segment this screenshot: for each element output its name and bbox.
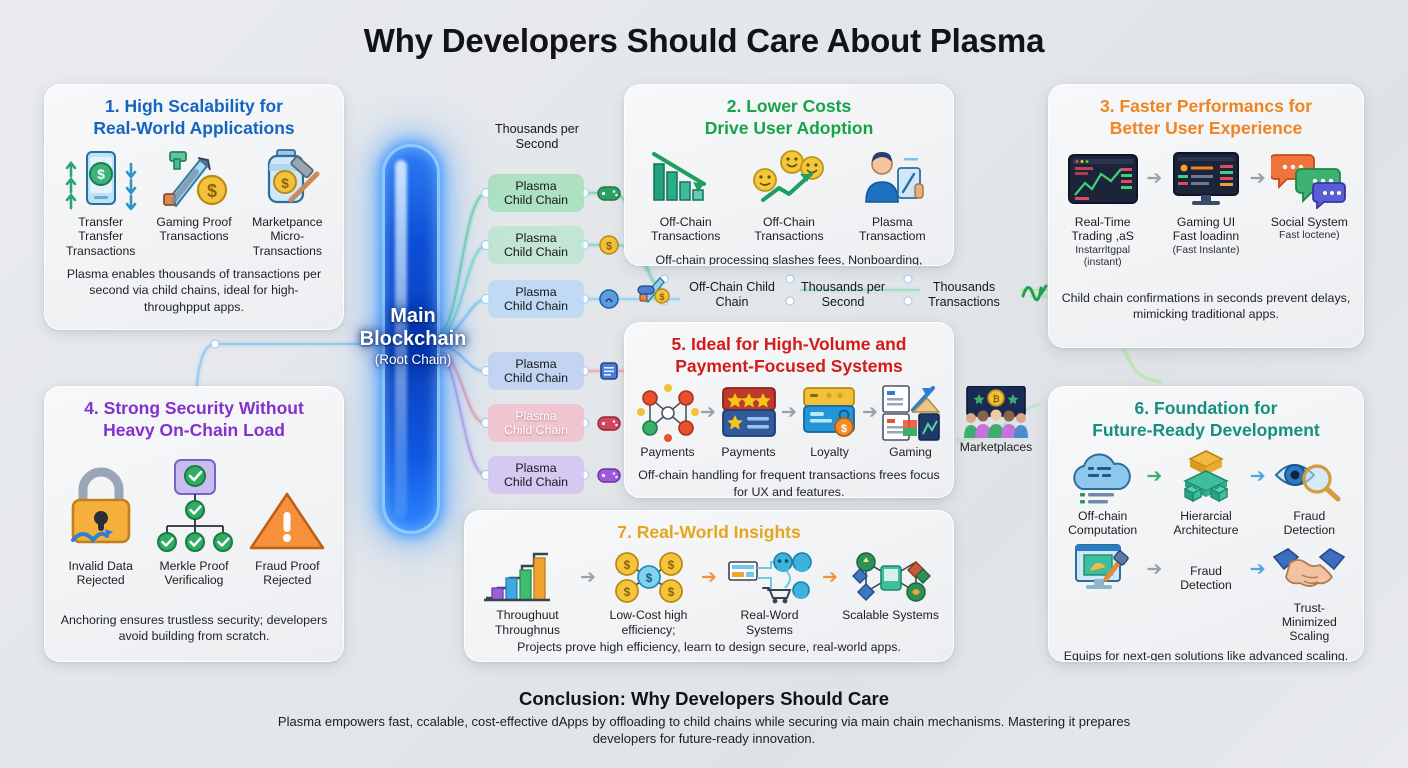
- card-icon-row: Real-Time Trading ,aS Instarrltgpal (ins…: [1061, 146, 1351, 268]
- card-title-line1: 7. Real-World Insights: [477, 521, 941, 543]
- icon-label: Invalid Data Rejected: [57, 559, 144, 588]
- child-chain-pill-6[interactable]: Plasma Child Chain: [488, 456, 584, 494]
- cloud-code-icon: [1066, 448, 1140, 506]
- svg-text:$: $: [606, 241, 612, 253]
- icon-label: Loyalty: [810, 445, 849, 459]
- arrow-right-icon: ➔: [1248, 146, 1268, 212]
- gamepad-icon: [596, 182, 622, 204]
- icon-label: Merkle Proof Verificaliog: [150, 559, 237, 588]
- coin-icon: $: [598, 234, 620, 256]
- icon-cell[interactable]: Plasma Transactiom: [844, 146, 941, 244]
- card-icon-row: Off-Chain Transactions: [637, 146, 941, 244]
- arrow-right-icon: ➔: [1248, 448, 1268, 506]
- documents-chart-icon: [879, 384, 943, 442]
- svg-text:₿: ₿: [992, 394, 999, 404]
- padlock-icon: [59, 456, 143, 556]
- infographic-canvas: Why Developers Should Care About Plasma …: [0, 0, 1408, 768]
- icon-label: Real-Time Trading ,aS: [1061, 215, 1144, 244]
- svg-text:$: $: [840, 423, 846, 435]
- icon-label: Transfer Transfer Transactions: [57, 215, 144, 258]
- icon-cell[interactable]: $ Marketpance Micro- Transactions: [244, 146, 331, 258]
- icon-label: Plasma Transactiom: [844, 215, 941, 244]
- card-description: Projects prove high efficiency, learn to…: [477, 639, 941, 655]
- card-title: 7. Real-World Insights: [477, 521, 941, 543]
- marketplaces-label: Marketplaces: [960, 440, 1032, 454]
- card-lower-costs[interactable]: 2. Lower Costs Drive User Adoption Off-C…: [624, 84, 954, 266]
- card-real-world-insights[interactable]: 7. Real-World Insights Throughuut Throug…: [464, 510, 954, 662]
- arrow-right-icon: ➔: [698, 384, 718, 442]
- label-thousands-transactions: Thousands Transactions: [908, 280, 1020, 310]
- card-title-line1: 3. Faster Performancs for: [1061, 95, 1351, 117]
- card-description: Child chain confirmations in seconds pre…: [1061, 290, 1351, 323]
- label-offchain-child-chain: Off-Chain Child Chain: [676, 280, 788, 310]
- svg-text:$: $: [207, 181, 217, 201]
- icon-sublabel: Instarrltgpal (instant): [1061, 244, 1144, 268]
- chain-label-line2: Child Chain: [504, 193, 568, 207]
- icon-cell[interactable]: Payments: [637, 384, 698, 459]
- card-title: 3. Faster Performancs for Better User Ex…: [1061, 95, 1351, 140]
- icon-cell[interactable]: Trust-Minimized Scaling: [1268, 542, 1351, 644]
- card-title-line1: 6. Foundation for: [1061, 397, 1351, 419]
- icon-cell[interactable]: Off-chain Computation: [1061, 448, 1144, 538]
- card-title-line1: 2. Lower Costs: [637, 95, 941, 117]
- icon-label: Gaming UI Fast loadinn: [1164, 215, 1247, 244]
- icon-cell[interactable]: Gaming UI Fast loadinn (Fast Inslante): [1164, 146, 1247, 256]
- svg-text:$: $: [97, 166, 105, 182]
- icon-cell[interactable]: $ Transfer Transfer Transactions: [57, 146, 144, 258]
- card-icon-row: $ Transfer Transfer Transactions: [57, 146, 331, 258]
- icon-cell[interactable]: Off-Chain Transactions: [740, 146, 837, 244]
- icon-cell[interactable]: Fraud Detection: [1164, 542, 1247, 593]
- card-title: 1. High Scalability for Real-World Appli…: [57, 95, 331, 140]
- gamepad-icon: [596, 412, 622, 434]
- label-thousands-per-second-top: Thousands per Second: [482, 122, 592, 152]
- chain-label-line2: Child Chain: [504, 245, 568, 259]
- card-title-line1: 1. High Scalability for: [57, 95, 331, 117]
- icon-label: Hierarcial Architecture: [1164, 509, 1247, 538]
- child-chain-pill-2[interactable]: Plasma Child Chain: [488, 226, 584, 264]
- card-description: Off-chain processing slashes fees, Nonbo…: [637, 252, 941, 266]
- icon-cell[interactable]: [1061, 542, 1144, 598]
- card-title-line1: 5. Ideal for High-Volume and: [637, 333, 941, 355]
- gaming-monitor-icon: [1168, 146, 1244, 212]
- ledger-icon: [598, 360, 620, 382]
- card-description: Off-chain handling for frequent transact…: [637, 467, 941, 498]
- card-title-line2: Payment-Focused Systems: [637, 355, 941, 377]
- icon-label: Trust-Minimized Scaling: [1268, 601, 1351, 644]
- card-title: 2. Lower Costs Drive User Adoption: [637, 95, 941, 140]
- chain-label-line1: Plasma: [515, 409, 556, 423]
- icon-label: Gaming Proof Transactions: [150, 215, 237, 244]
- jar-hammer-icon: $: [247, 146, 327, 212]
- icon-cell[interactable]: Real-Word Systems: [719, 549, 820, 637]
- icon-label: Scalable Systems: [842, 608, 939, 622]
- card-title: 4. Strong Security Without Heavy On-Chai…: [57, 397, 331, 442]
- page-title: Why Developers Should Care About Plasma: [0, 22, 1408, 60]
- card-title-line2: Drive User Adoption: [637, 117, 941, 139]
- card-high-scalability[interactable]: 1. High Scalability for Real-World Appli…: [44, 84, 344, 330]
- icon-label: Payments: [640, 445, 694, 459]
- warning-triangle-icon: [245, 456, 329, 556]
- icon-sublabel: Fast loctene): [1279, 229, 1340, 241]
- icon-label: Low-Cost high efficiency;: [598, 608, 699, 637]
- arrow-right-icon: ➔: [860, 384, 880, 442]
- icon-cell[interactable]: Fraud Detection: [1268, 448, 1351, 538]
- icon-label: Throughuut Throughnus: [477, 608, 578, 637]
- child-chain-pill-1[interactable]: Plasma Child Chain: [488, 174, 584, 212]
- icon-cell[interactable]: Real-Time Trading ,aS Instarrltgpal (ins…: [1061, 146, 1144, 268]
- icon-label: Real-Word Systems: [719, 608, 820, 637]
- card-faster-performance[interactable]: 3. Faster Performancs for Better User Ex…: [1048, 84, 1364, 348]
- svg-text:$: $: [623, 558, 630, 572]
- card-description: Anchoring ensures trustless security; de…: [57, 612, 331, 645]
- gamepad-icon: [596, 464, 622, 486]
- card-title-line2: Real-World Applications: [57, 117, 331, 139]
- child-chain-pill-5[interactable]: Plasma Child Chain: [488, 404, 584, 442]
- handshake-icon: [1272, 542, 1346, 598]
- main-blockchain-pillar: [382, 144, 440, 534]
- arrow-right-icon: ➔: [1144, 542, 1164, 598]
- smiley-up-arrow-icon: [749, 146, 829, 212]
- card-title-line2: Better User Experience: [1061, 117, 1351, 139]
- icon-label: Fraud Detection: [1164, 564, 1247, 593]
- card-strong-security[interactable]: 4. Strong Security Without Heavy On-Chai…: [44, 386, 344, 662]
- icon-label: Off-Chain Transactions: [740, 215, 837, 244]
- icon-cell[interactable]: Gaming: [880, 384, 941, 459]
- icon-cell[interactable]: Fraud Proof Rejected: [244, 456, 331, 588]
- card-high-volume-payments[interactable]: 5. Ideal for High-Volume and Payment-Foc…: [624, 322, 954, 498]
- card-title-line2: Heavy On-Chain Load: [57, 419, 331, 441]
- card-icon-row: Payments ➔ Payments: [637, 384, 941, 459]
- icon-label: Gaming: [889, 445, 932, 459]
- scalable-network-icon: [848, 549, 934, 605]
- card-title-line1: 4. Strong Security Without: [57, 397, 331, 419]
- card-icon-row-2: ➔ Fraud Detection ➔ Trust-Minimized Scal…: [1061, 542, 1351, 644]
- chain-label-line1: Plasma: [515, 179, 556, 193]
- screen-analytics-icon: [1068, 542, 1138, 598]
- icon-label: Off-Chain Transactions: [637, 215, 734, 244]
- card-description: Equips for next-gen solutions like advan…: [1061, 648, 1351, 662]
- icon-label: Payments: [721, 445, 775, 459]
- arrow-right-icon: ➔: [820, 549, 840, 605]
- conclusion-body: Plasma empowers fast, ccalable, cost-eff…: [254, 713, 1154, 748]
- card-icon-row: Invalid Data Rejected: [57, 456, 331, 588]
- chat-bubbles-icon: [1271, 146, 1347, 212]
- conclusion-title: Conclusion: Why Developers Should Care: [254, 688, 1154, 710]
- icon-cell[interactable]: $ Gaming Proof Transactions: [150, 146, 237, 244]
- stars-card-icon: [717, 384, 781, 442]
- merkle-tree-check-icon: [149, 456, 239, 556]
- svg-text:$: $: [281, 175, 289, 191]
- arrow-right-icon: ➔: [1248, 542, 1268, 598]
- card-description: Plasma enables thousands of transactions…: [57, 266, 331, 315]
- icon-cell[interactable]: $ Loyalty: [799, 384, 860, 459]
- sword-coin-icon: $: [154, 146, 234, 212]
- credit-card-coin-icon: $: [798, 384, 862, 442]
- cart-flow-icon: [727, 549, 813, 605]
- marketplaces-node[interactable]: ₿ Marketplaces: [948, 386, 1044, 454]
- phone-money-icon: $: [61, 146, 141, 212]
- chain-label-line2: Child Chain: [504, 475, 568, 489]
- chain-label-line1: Plasma: [515, 285, 556, 299]
- svg-text:$: $: [623, 585, 630, 599]
- card-future-ready-foundation[interactable]: 6. Foundation for Future-Ready Developme…: [1048, 386, 1364, 662]
- arrow-right-icon: ➔: [699, 549, 719, 605]
- svg-text:$: $: [659, 292, 664, 302]
- chain-label-line1: Plasma: [515, 357, 556, 371]
- trading-chart-screen-icon: [1065, 146, 1141, 212]
- conclusion-block: Conclusion: Why Developers Should Care P…: [254, 688, 1154, 748]
- child-chain-pill-4[interactable]: Plasma Child Chain: [488, 352, 584, 390]
- icon-cell[interactable]: Merkle Proof Verificaliog: [150, 456, 237, 588]
- stacked-blocks-icon: [1169, 448, 1243, 506]
- person-tablet-icon: [852, 146, 932, 212]
- icon-cell[interactable]: Payments: [718, 384, 779, 459]
- arrow-right-icon: ➔: [1144, 448, 1164, 506]
- chain-label-line1: Plasma: [515, 231, 556, 245]
- label-thousands-per-second-mid: Thousands per Second: [792, 280, 894, 310]
- icon-label: Fraud Proof Rejected: [244, 559, 331, 588]
- coins-network-icon: $ $ $ $ $: [607, 549, 691, 605]
- arrow-right-icon: ➔: [578, 549, 598, 605]
- icon-label: Marketpance Micro- Transactions: [244, 215, 331, 258]
- chain-label-line2: Child Chain: [504, 371, 568, 385]
- card-title: 5. Ideal for High-Volume and Payment-Foc…: [637, 333, 941, 378]
- icon-cell[interactable]: Off-Chain Transactions: [637, 146, 734, 244]
- card-icon-row-1: Off-chain Computation ➔: [1061, 448, 1351, 538]
- token-icon: [598, 288, 620, 310]
- icon-sublabel: (Fast Inslante): [1172, 244, 1239, 256]
- card-icon-row: Throughuut Throughnus ➔ $ $ $: [477, 549, 941, 637]
- bar-chart-down-icon: [646, 146, 726, 212]
- eye-magnifier-icon: [1272, 448, 1346, 506]
- network-nodes-icon: [636, 384, 700, 442]
- icon-label: Off-chain Computation: [1061, 509, 1144, 538]
- svg-text:$: $: [667, 585, 674, 599]
- arrow-right-icon: ➔: [779, 384, 799, 442]
- icon-cell[interactable]: Throughuut Throughnus: [477, 549, 578, 637]
- card-title-line2: Future-Ready Development: [1061, 419, 1351, 441]
- chain-label-line1: Plasma: [515, 461, 556, 475]
- chain-label-line2: Child Chain: [504, 423, 568, 437]
- growth-bars-icon: [480, 549, 576, 605]
- card-title: 6. Foundation for Future-Ready Developme…: [1061, 397, 1351, 442]
- svg-text:$: $: [667, 558, 674, 572]
- icon-cell[interactable]: $ $ $ $ $ Low-Cost high efficiency;: [598, 549, 699, 637]
- icon-cell[interactable]: Invalid Data Rejected: [57, 456, 144, 588]
- arrow-right-icon: ➔: [1144, 146, 1164, 212]
- icon-label: Social System: [1271, 215, 1348, 229]
- sword-coin-icon: $: [636, 272, 672, 306]
- icon-cell[interactable]: Scalable Systems: [840, 549, 941, 622]
- chain-label-line2: Child Chain: [504, 299, 568, 313]
- marketplace-crowd-icon: ₿: [959, 386, 1033, 438]
- icon-cell[interactable]: Social System Fast loctene): [1268, 146, 1351, 241]
- svg-text:$: $: [645, 571, 652, 585]
- icon-cell[interactable]: Hierarcial Architecture: [1164, 448, 1247, 538]
- icon-label: Fraud Detection: [1268, 509, 1351, 538]
- child-chain-pill-3[interactable]: Plasma Child Chain: [488, 280, 584, 318]
